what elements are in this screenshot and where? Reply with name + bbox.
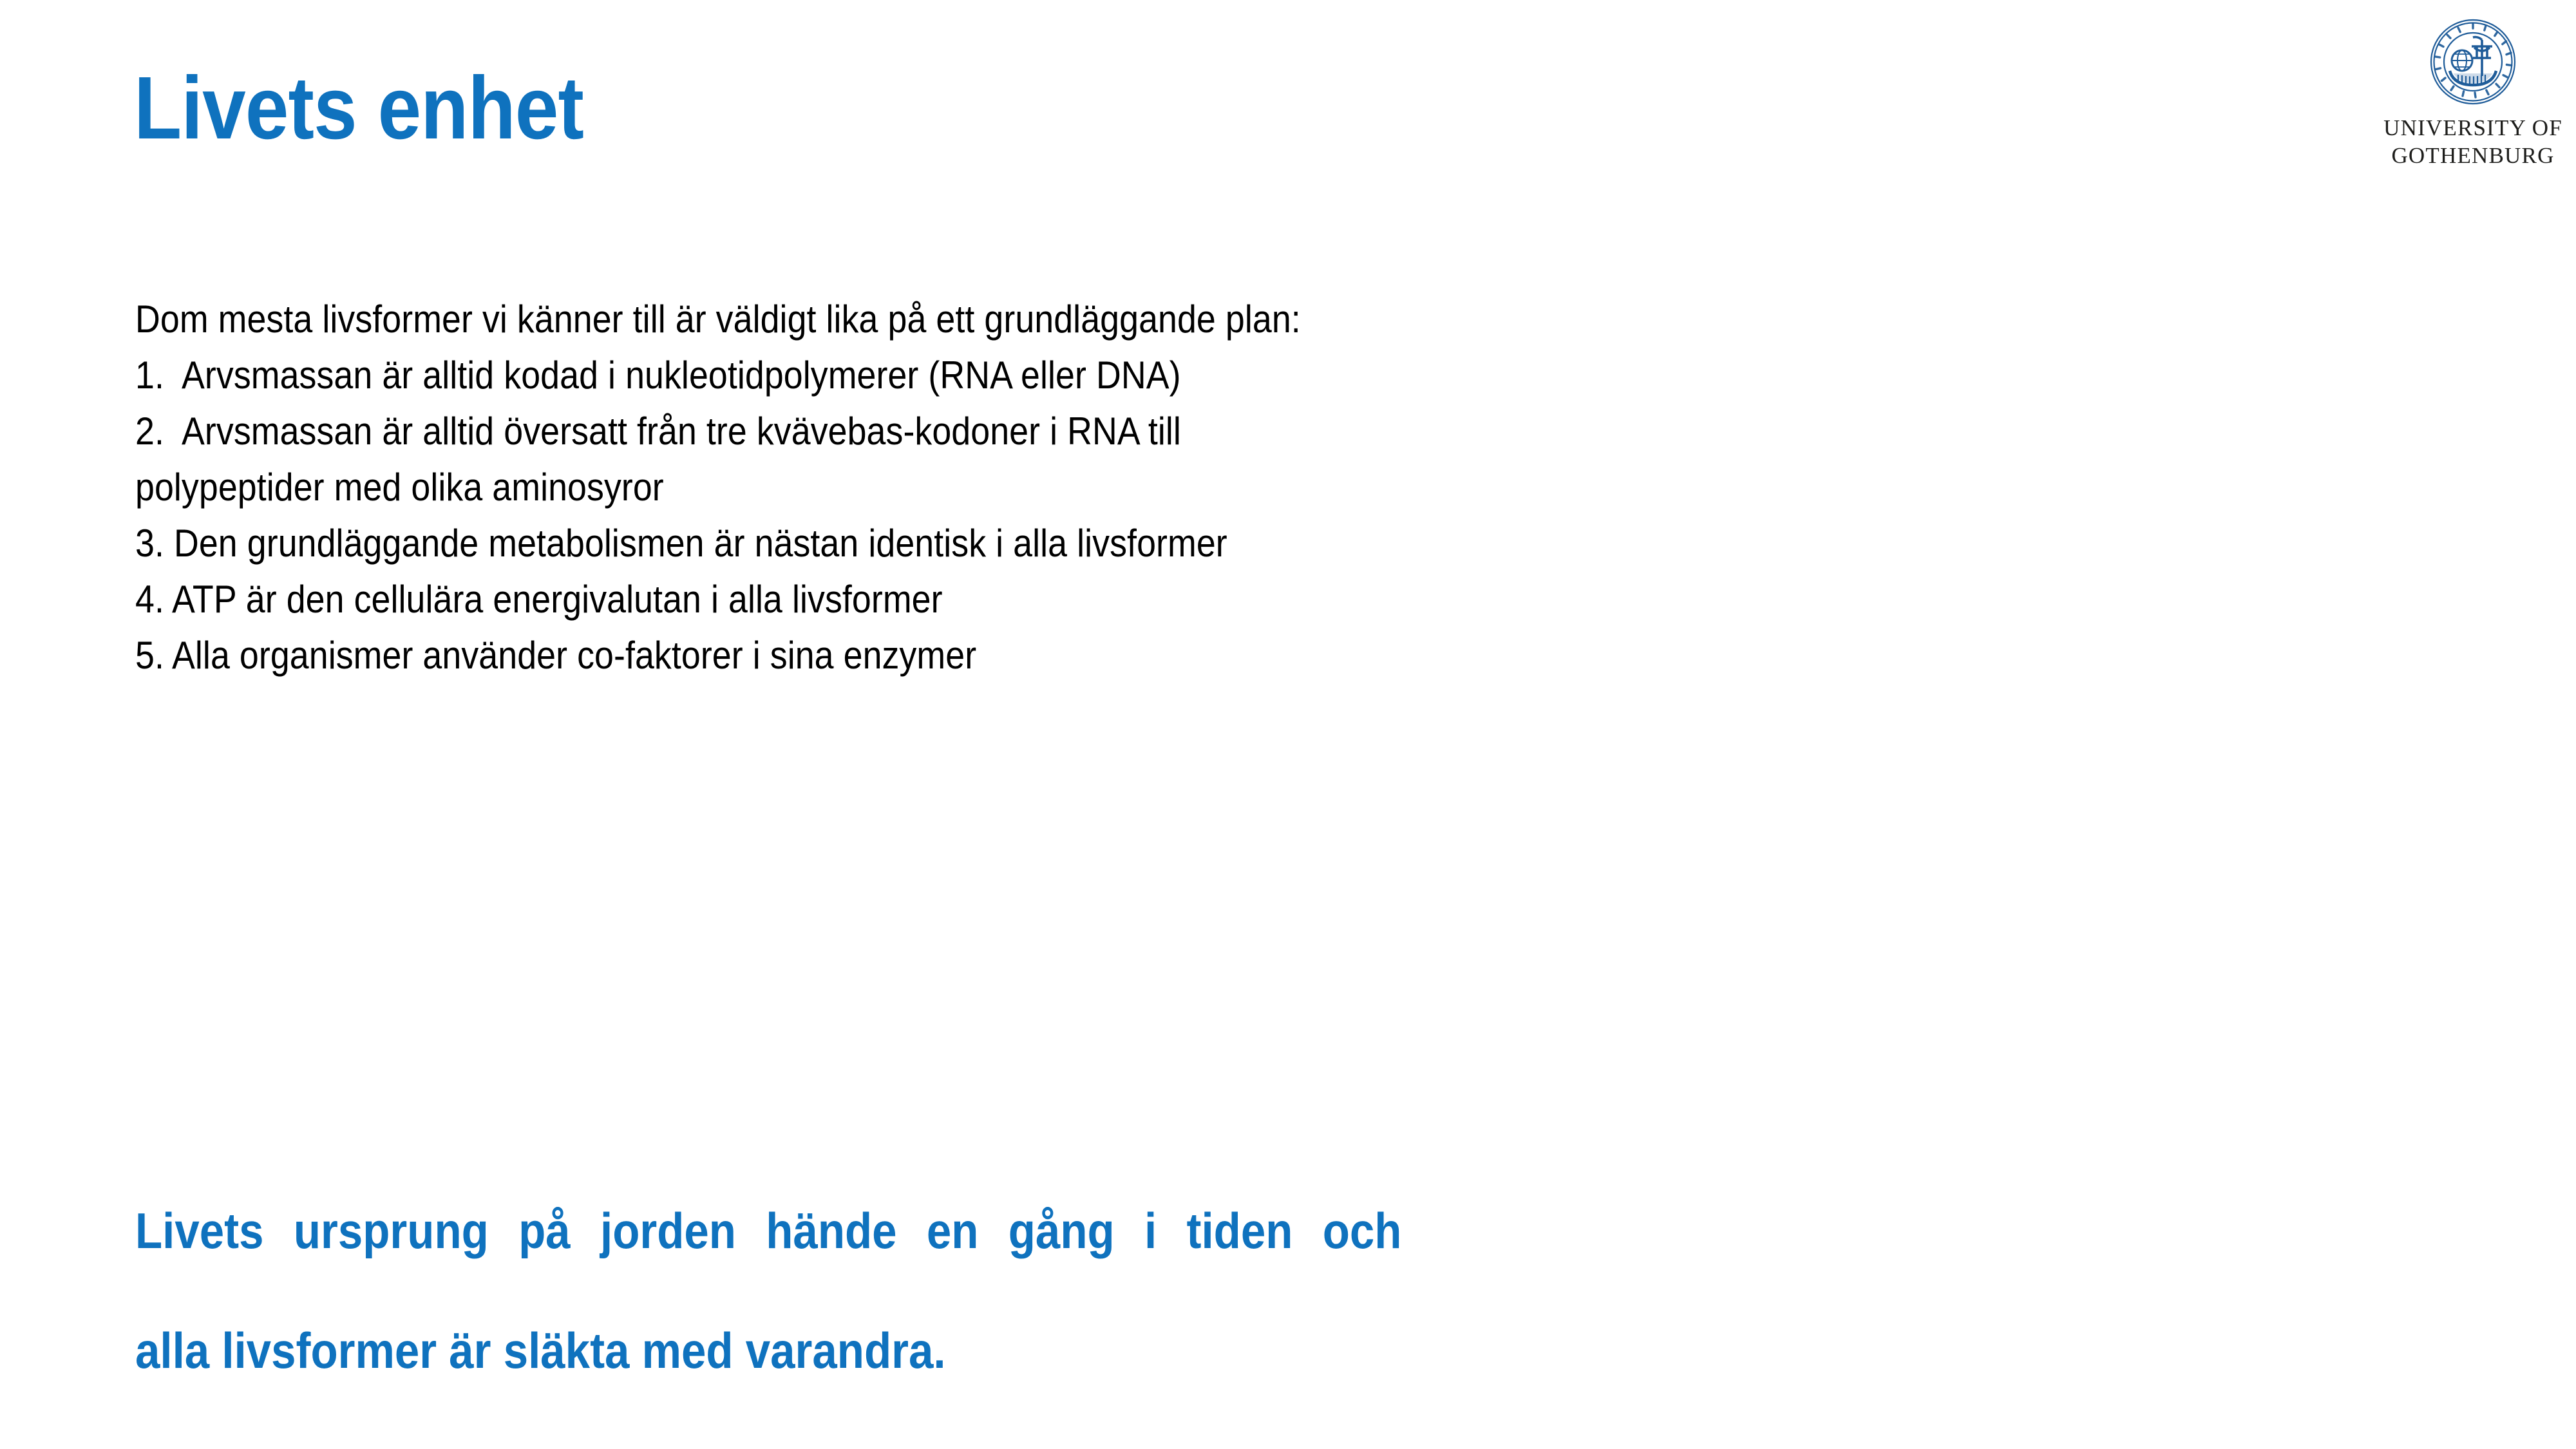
conclusion-line-2: alla livsformer är släkta med varandra. [135,1291,1401,1410]
intro-line: Dom mesta livsformer vi känner till är v… [135,291,2003,347]
list-item-2: 2. Arvsmassan är alltid översatt från tr… [135,403,2003,459]
logo-wordmark-line1: UNIVERSITY OF [2383,115,2563,142]
conclusion-line-1: Livets ursprung på jorden hände en gång … [135,1171,1401,1291]
list-item-5: 5. Alla organismer använder co-faktorer … [135,627,2003,683]
body-content: Dom mesta livsformer vi känner till är v… [135,291,2222,683]
slide-canvas: Livets enhet [0,0,2576,1449]
logo-wordmark: UNIVERSITY OF GOTHENBURG [2383,115,2563,169]
logo-wordmark-line2: GOTHENBURG [2383,142,2563,170]
conclusion-block: Livets ursprung på jorden hände en gång … [135,1171,1401,1410]
list-item-3: 3. Den grundläggande metabolismen är näs… [135,515,2003,571]
university-logo: UNIVERSITY OF GOTHENBURG [2383,18,2563,169]
list-item-4: 4. ATP är den cellulära energivalutan i … [135,571,2003,627]
page-title: Livets enhet [134,61,583,155]
university-seal-icon [2429,18,2517,106]
list-item-1: 1. Arvsmassan är alltid kodad i nukleoti… [135,347,2003,403]
list-item-2-continuation: polypeptider med olika aminosyror [135,459,2003,515]
